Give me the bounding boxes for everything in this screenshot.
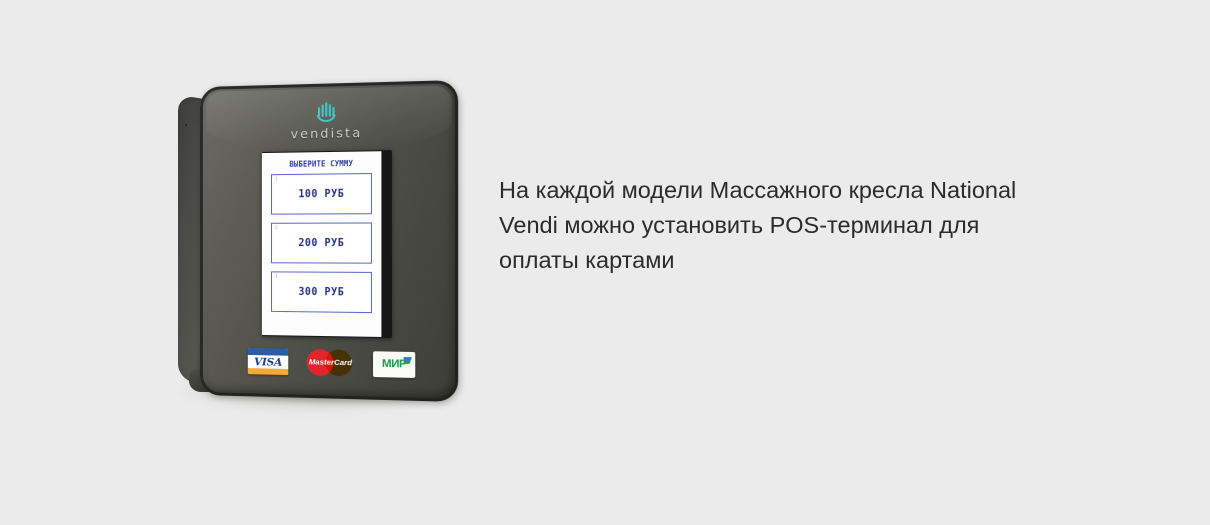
caption-block: На каждой модели Массажного кресла Natio… xyxy=(499,173,1179,278)
device-front-panel: vendista ВЫБЕРИТЕ СУММУ 1 100 РУБ 2 200 … xyxy=(200,80,458,402)
amount-button-label: 200 РУБ xyxy=(298,237,344,249)
mir-label: МИР xyxy=(382,358,406,371)
amount-button-index: 1 xyxy=(275,176,277,181)
vendista-logo-icon xyxy=(313,98,340,125)
amount-button-label: 300 РУБ xyxy=(298,286,344,299)
amount-button-300[interactable]: 3 300 РУБ xyxy=(271,271,372,313)
mastercard-logo-icon: MasterCard xyxy=(307,347,355,379)
terminal-screen[interactable]: ВЫБЕРИТЕ СУММУ 1 100 РУБ 2 200 РУБ 3 300… xyxy=(262,151,382,337)
visa-top-bar xyxy=(248,348,288,356)
payment-logos-row: VISA MasterCard МИР xyxy=(248,346,415,380)
pos-terminal-device: vendista ВЫБЕРИТЕ СУММУ 1 100 РУБ 2 200 … xyxy=(170,78,460,408)
amount-button-100[interactable]: 1 100 РУБ xyxy=(271,173,372,215)
screen-bezel: ВЫБЕРИТЕ СУММУ 1 100 РУБ 2 200 РУБ 3 300… xyxy=(262,150,392,338)
visa-label: VISA xyxy=(248,356,288,369)
amount-button-index: 2 xyxy=(275,225,277,230)
amount-button-index: 3 xyxy=(275,273,277,278)
caption-line: На каждой модели Массажного кресла Natio… xyxy=(499,173,1179,208)
brand-block: vendista xyxy=(200,95,458,143)
mir-flag-icon xyxy=(404,356,412,363)
screen-title: ВЫБЕРИТЕ СУММУ xyxy=(270,158,373,170)
brand-name: vendista xyxy=(200,123,458,143)
visa-bottom-bar xyxy=(248,368,288,375)
product-image: vendista ВЫБЕРИТЕ СУММУ 1 100 РУБ 2 200 … xyxy=(170,78,470,423)
caption-line: Vendi можно установить POS-терминал для xyxy=(499,208,1179,243)
amount-button-label: 100 РУБ xyxy=(298,188,344,201)
mastercard-label: MasterCard xyxy=(307,357,355,367)
mir-logo-icon: МИР xyxy=(373,351,415,378)
caption-line: оплаты картами xyxy=(499,243,1179,278)
amount-button-200[interactable]: 2 200 РУБ xyxy=(271,222,372,263)
visa-logo-icon: VISA xyxy=(248,348,288,375)
